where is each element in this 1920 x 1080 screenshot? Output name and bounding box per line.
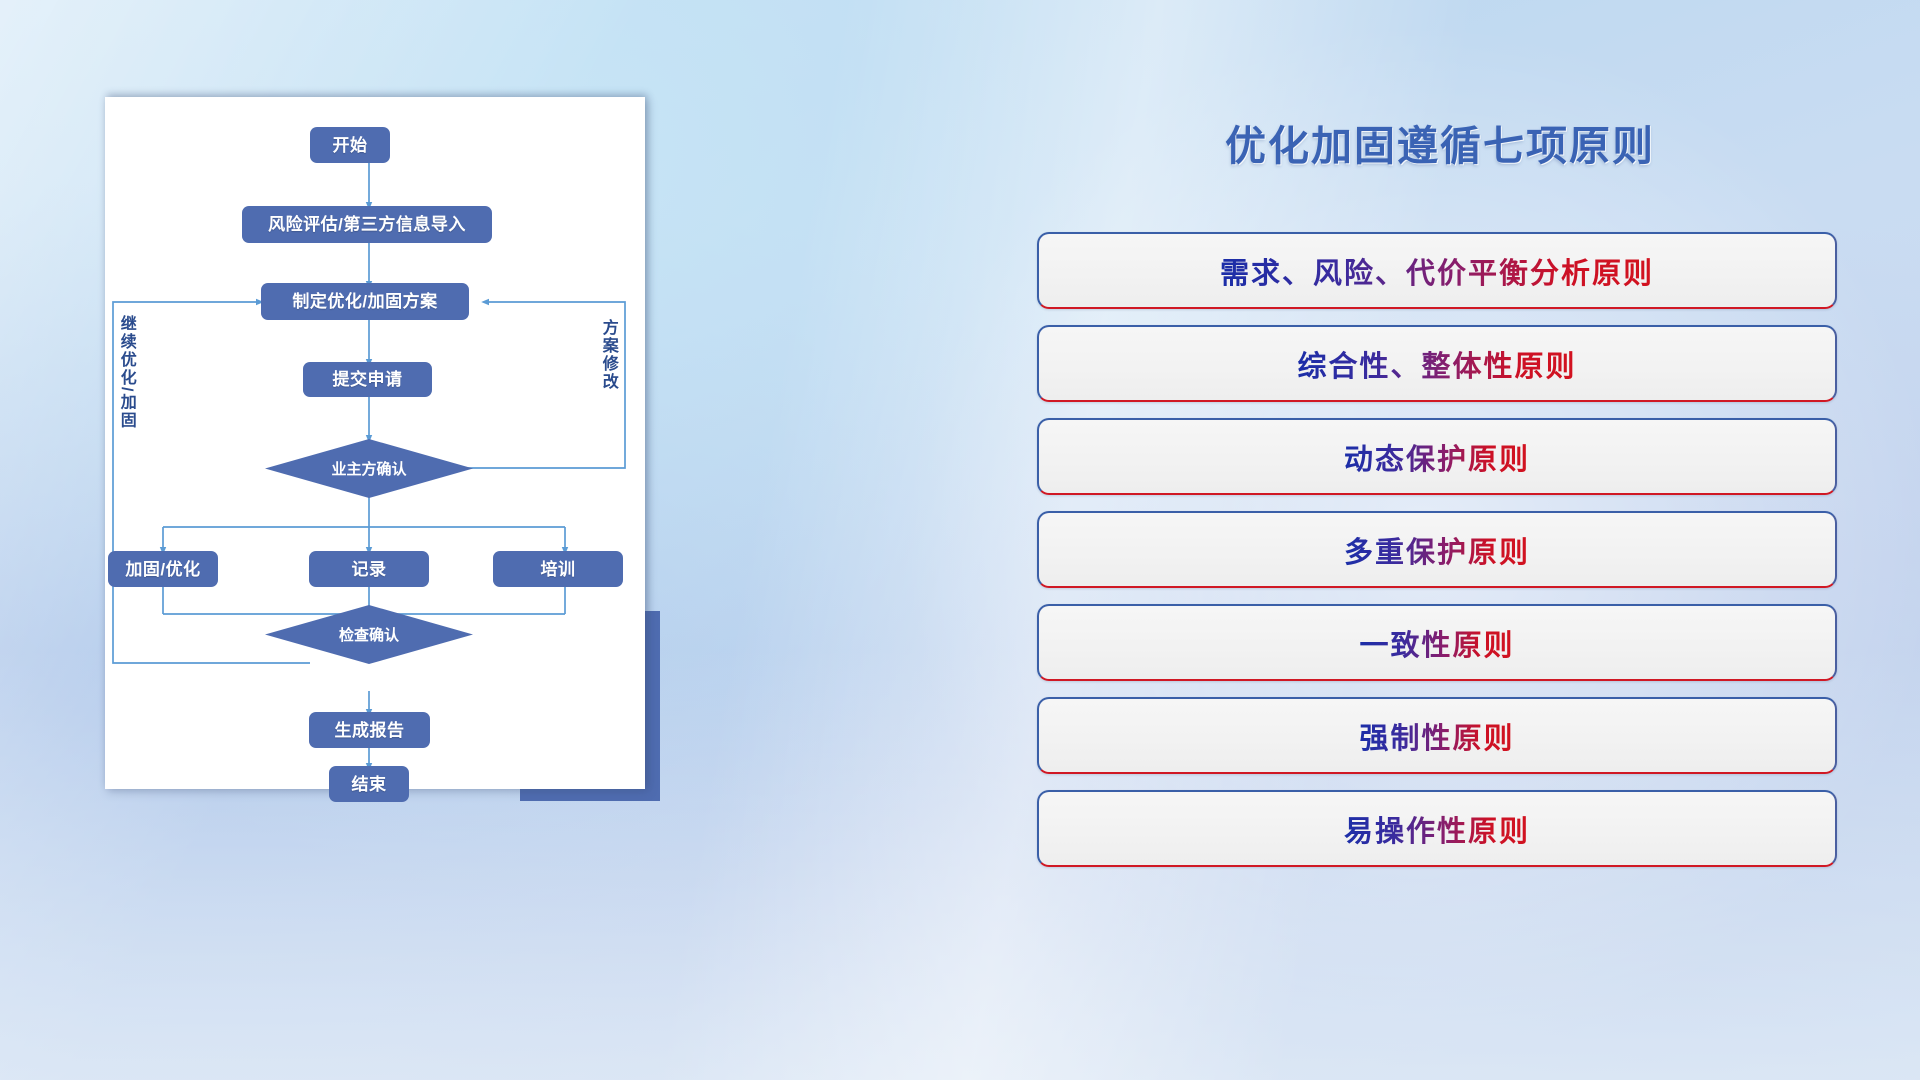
flow-decision-inspection-confirm-label: 检查确认 (339, 624, 399, 645)
flow-decision-owner-confirm-label: 业主方确认 (331, 458, 406, 479)
flow-node-risk-assessment[interactable]: 风险评估/第三方信息导入 (242, 206, 492, 243)
list-item[interactable]: 强制性原则 (1037, 697, 1837, 774)
flow-node-plan[interactable]: 制定优化/加固方案 (261, 283, 469, 320)
flow-node-reinforce[interactable]: 加固/优化 (108, 551, 218, 587)
list-item[interactable]: 综合性、整体性原则 (1037, 325, 1837, 402)
flow-node-submit-application[interactable]: 提交申请 (303, 362, 432, 397)
flow-node-start-label: 开始 (333, 137, 368, 154)
flow-node-training-label: 培训 (541, 561, 576, 578)
edge-label-plan-revision: 方案修改 (599, 319, 616, 391)
flow-node-generate-report[interactable]: 生成报告 (309, 712, 430, 748)
principle-label: 易操作性原则 (1344, 808, 1530, 850)
flow-node-end-label: 结束 (352, 776, 387, 793)
flow-node-risk-assessment-label: 风险评估/第三方信息导入 (268, 216, 466, 233)
principles-panel: 优化加固遵循七项原则 需求、风险、代价平衡分析原则 综合性、整体性原则 动态保护… (1020, 0, 1860, 1080)
principle-label: 需求、风险、代价平衡分析原则 (1220, 250, 1654, 292)
flow-node-reinforce-label: 加固/优化 (125, 561, 200, 578)
edge-label-continue-optimize: 继续优化/加固 (117, 315, 134, 429)
page-title: 优化加固遵循七项原则 (1020, 112, 1860, 172)
list-item[interactable]: 易操作性原则 (1037, 790, 1837, 867)
flow-node-end[interactable]: 结束 (329, 766, 409, 802)
principle-label: 多重保护原则 (1344, 529, 1530, 571)
flowchart: 开始 风险评估/第三方信息导入 制定优化/加固方案 提交申请 业主方确认 加固/… (105, 97, 645, 789)
flow-node-training[interactable]: 培训 (493, 551, 623, 587)
principle-label: 综合性、整体性原则 (1297, 343, 1576, 385)
flow-node-start[interactable]: 开始 (310, 127, 390, 163)
principle-label: 一致性原则 (1359, 622, 1514, 664)
flow-node-submit-application-label: 提交申请 (333, 371, 403, 388)
list-item[interactable]: 一致性原则 (1037, 604, 1837, 681)
list-item[interactable]: 动态保护原则 (1037, 418, 1837, 495)
principle-label: 强制性原则 (1359, 715, 1514, 757)
principles-list: 需求、风险、代价平衡分析原则 综合性、整体性原则 动态保护原则 多重保护原则 一… (1037, 232, 1837, 883)
list-item[interactable]: 多重保护原则 (1037, 511, 1837, 588)
flow-node-record[interactable]: 记录 (309, 551, 429, 587)
principle-label: 动态保护原则 (1344, 436, 1530, 478)
flow-node-generate-report-label: 生成报告 (335, 722, 405, 739)
list-item[interactable]: 需求、风险、代价平衡分析原则 (1037, 232, 1837, 309)
flow-node-record-label: 记录 (352, 561, 387, 578)
flow-decision-owner-confirm[interactable]: 业主方确认 (265, 439, 473, 498)
flow-node-plan-label: 制定优化/加固方案 (292, 293, 437, 310)
flow-decision-inspection-confirm[interactable]: 检查确认 (265, 605, 473, 664)
